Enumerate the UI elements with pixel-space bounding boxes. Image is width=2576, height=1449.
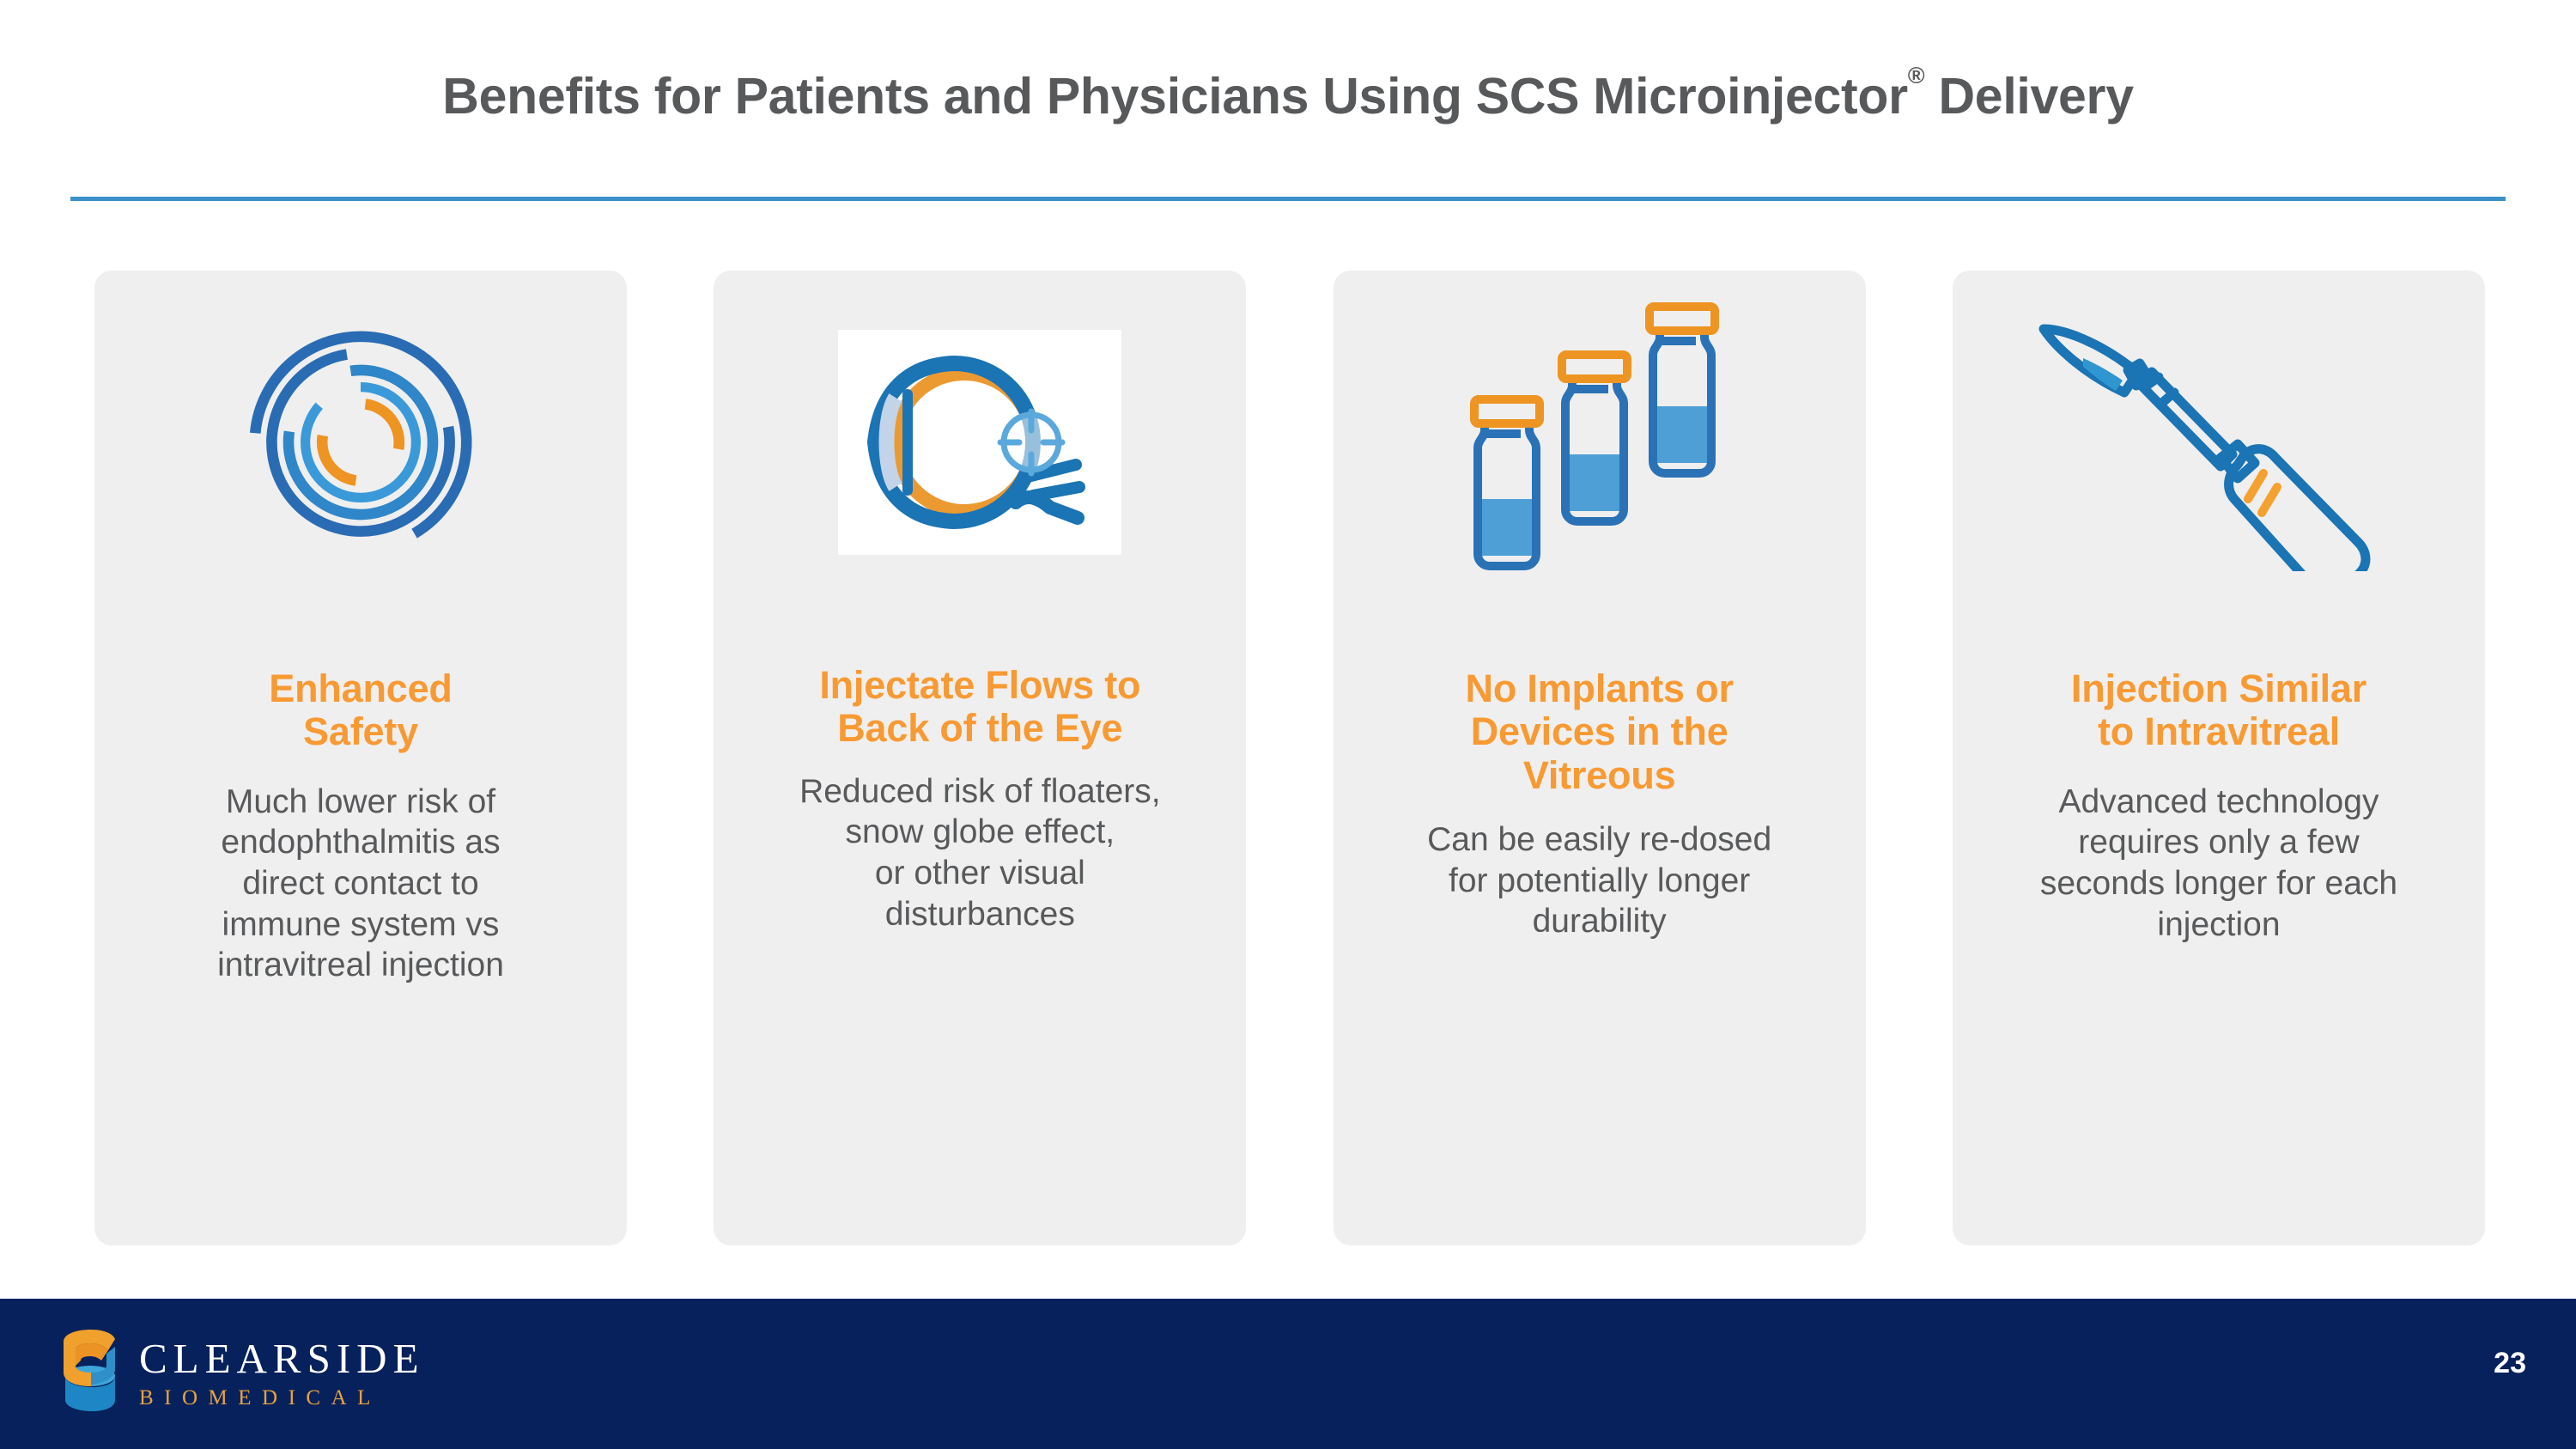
card-body-text: Advanced technology requires only a few … — [2040, 782, 2397, 945]
card-heading: No Implants or Devices in the Vitreous — [1466, 667, 1734, 797]
logo-company-subtitle: BIOMEDICAL — [139, 1387, 425, 1409]
card-body-text: Reduced risk of floaters, snow globe eff… — [799, 771, 1161, 935]
microinjector-icon — [1968, 271, 2470, 614]
card-heading: Injection Similar to Intravitreal — [2071, 667, 2366, 754]
card-body-text: Can be easily re-dosed for potentially l… — [1427, 819, 1771, 942]
card-heading: Injectate Flows to Back of the Eye — [819, 664, 1140, 751]
benefit-card-no-implants[interactable]: No Implants or Devices in the Vitreous C… — [1334, 271, 1866, 1245]
benefit-card-injection-similar[interactable]: Injection Similar to Intravitreal Advanc… — [1953, 271, 2485, 1245]
page-title-tail: Delivery — [1924, 68, 2133, 125]
benefit-card-injectate-flows[interactable]: Injectate Flows to Back of the Eye Reduc… — [714, 271, 1246, 1245]
slide-footer: CLEARSIDE BIOMEDICAL 23 — [0, 1299, 2576, 1449]
page-title: Benefits for Patients and Physicians Usi… — [0, 67, 2576, 125]
eye-icon-plate — [838, 330, 1121, 555]
concentric-arcs-icon — [110, 271, 611, 614]
title-divider-rule — [70, 197, 2506, 201]
logo-wordmark: CLEARSIDE BIOMEDICAL — [139, 1337, 425, 1409]
benefit-card-enhanced-safety[interactable]: Enhanced Safety Much lower risk of endop… — [94, 271, 627, 1245]
logo-company-name: CLEARSIDE — [139, 1337, 425, 1379]
eye-cross-section-icon — [729, 271, 1230, 614]
card-heading: Enhanced Safety — [269, 667, 452, 754]
page-title-main: Benefits for Patients and Physicians Usi… — [442, 68, 1908, 125]
benefit-card-grid: Enhanced Safety Much lower risk of endop… — [94, 271, 2485, 1245]
card-body-text: Much lower risk of endophthalmitis as di… — [217, 782, 504, 986]
registered-trademark-symbol: ® — [1908, 63, 1925, 88]
clearside-biomedical-logo[interactable]: CLEARSIDE BIOMEDICAL — [53, 1328, 425, 1418]
page-number: 23 — [2494, 1347, 2526, 1380]
vials-icon — [1349, 271, 1850, 614]
clearside-s-logo-icon — [53, 1328, 120, 1418]
